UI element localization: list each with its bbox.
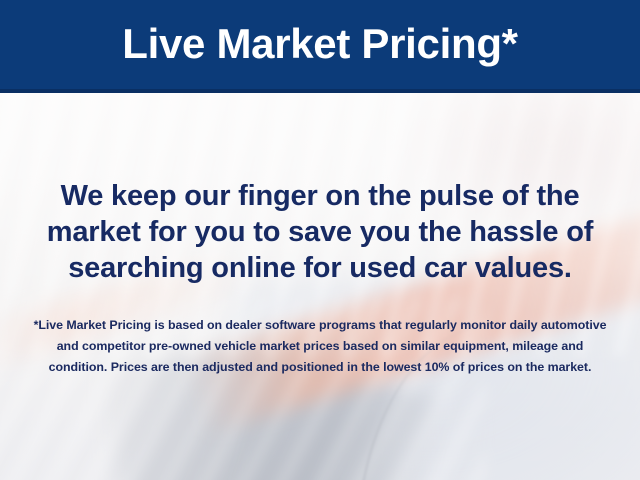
disclaimer-text: *Live Market Pricing is based on dealer … xyxy=(30,315,610,378)
headline-text: We keep our finger on the pulse of the m… xyxy=(22,178,618,286)
live-market-pricing-card: Live Market Pricing* We keep our finger … xyxy=(0,0,640,480)
header-banner: Live Market Pricing* xyxy=(0,0,640,93)
banner-title: Live Market Pricing* xyxy=(122,23,517,67)
card-content: We keep our finger on the pulse of the m… xyxy=(0,93,640,480)
